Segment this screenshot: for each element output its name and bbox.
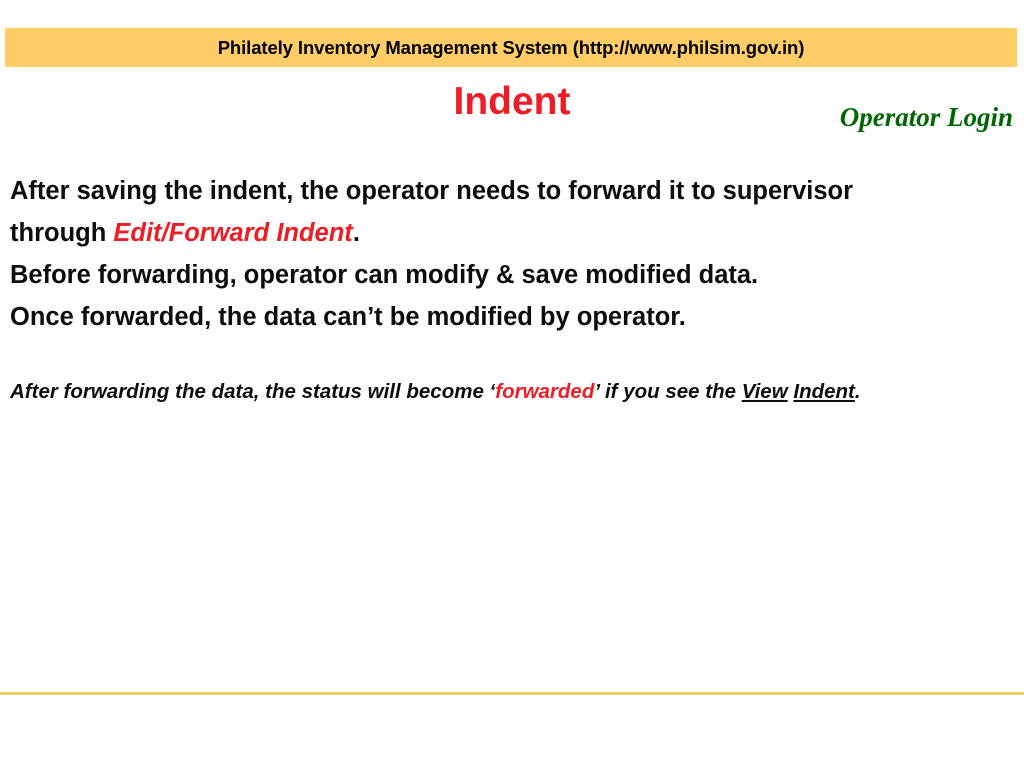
- body-line-2: through Edit/Forward Indent.: [10, 212, 1016, 254]
- body-content: After saving the indent, the operator ne…: [10, 170, 1016, 338]
- body-line-1-text: After saving the indent, the operator ne…: [10, 177, 853, 205]
- body-line-4: Once forwarded, the data can’t be modifi…: [10, 296, 1016, 338]
- body-line-3: Before forwarding, operator can modify &…: [10, 254, 1016, 296]
- note-prefix: After forwarding the data, the status wi…: [10, 380, 495, 403]
- body-line-2-prefix: through: [10, 219, 113, 247]
- view-indent-link-word-2: Indent: [793, 380, 855, 403]
- app-header-bar: Philately Inventory Management System (h…: [5, 28, 1017, 67]
- login-role-label: Operator Login: [840, 102, 1013, 133]
- body-line-1: After saving the indent, the operator ne…: [10, 170, 1016, 212]
- status-forwarded-highlight: forwarded: [495, 380, 594, 403]
- edit-forward-indent-emphasis: Edit/Forward Indent: [113, 219, 352, 247]
- note-content: After forwarding the data, the status wi…: [10, 375, 1000, 409]
- footer-divider: [0, 692, 1024, 695]
- slide-canvas: { "header": { "title": "Philately Invent…: [0, 0, 1024, 768]
- note-paragraph: After forwarding the data, the status wi…: [10, 375, 1000, 409]
- note-middle: ’ if you see the: [594, 380, 741, 403]
- body-line-4-text: Once forwarded, the data can’t be modifi…: [10, 303, 686, 331]
- view-indent-link-word-1: View: [742, 380, 788, 403]
- app-title: Philately Inventory Management System (h…: [218, 37, 805, 59]
- body-line-3-text: Before forwarding, operator can modify &…: [10, 261, 758, 289]
- note-suffix: .: [855, 380, 861, 403]
- body-line-2-suffix: .: [353, 219, 360, 247]
